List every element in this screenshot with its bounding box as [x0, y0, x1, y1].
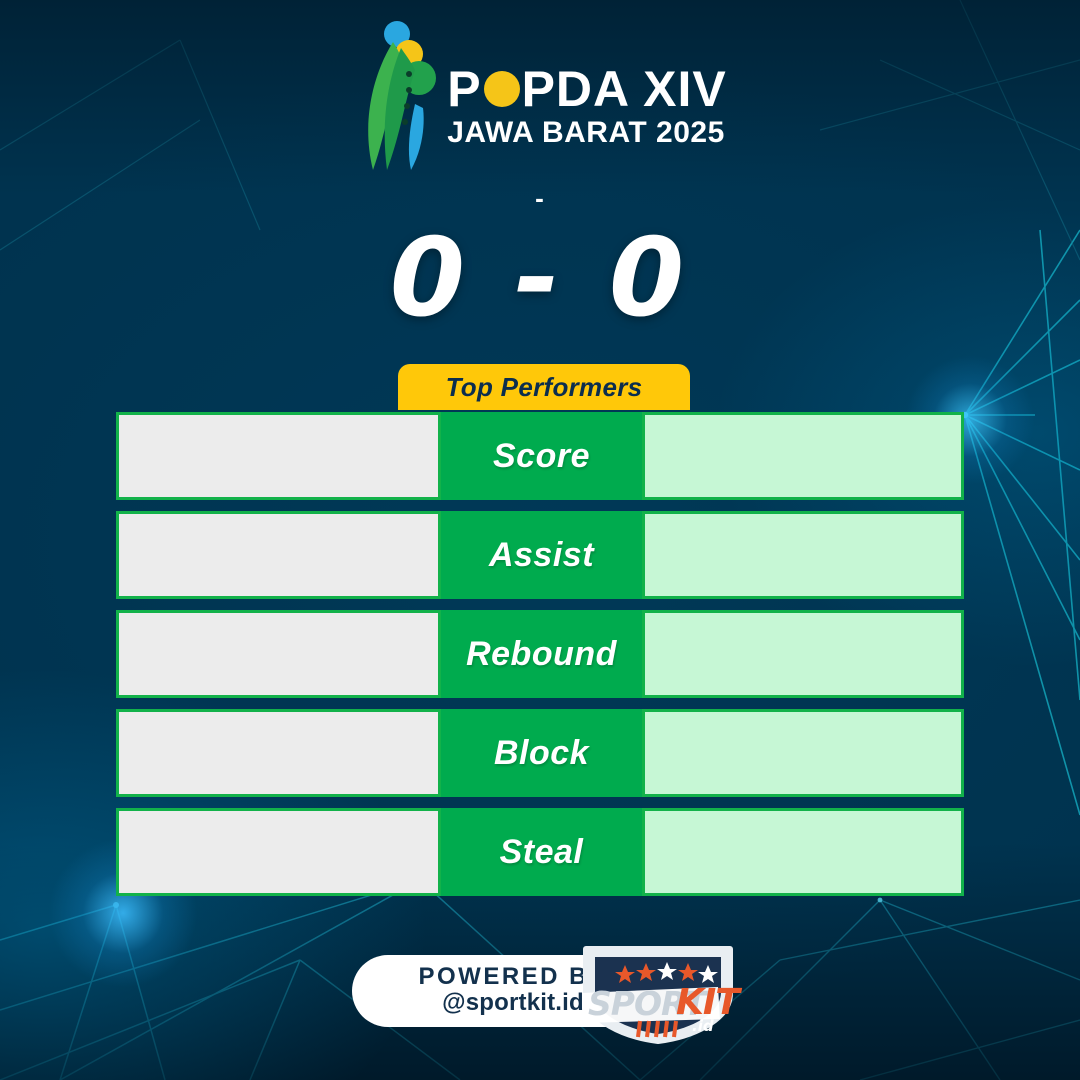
top-performers-banner: Top Performers: [398, 364, 690, 410]
team-names: -: [0, 186, 1080, 210]
home-player-cell[interactable]: [116, 610, 441, 698]
stat-label-cell: Steal: [441, 808, 642, 896]
poster-canvas: PPDA XIV JAWA BARAT 2025 - 0 - 0 Top Per…: [0, 0, 1080, 1080]
home-player-cell[interactable]: [116, 808, 441, 896]
event-subtitle: JAWA BARAT 2025: [447, 118, 727, 148]
score-display: 0 - 0: [0, 216, 1080, 341]
stat-label: Rebound: [466, 635, 617, 674]
stat-label: Block: [494, 734, 589, 773]
home-player-cell[interactable]: [116, 511, 441, 599]
stat-label: Score: [493, 437, 590, 476]
event-title: PPDA XIV: [447, 64, 727, 114]
stat-label-cell: Rebound: [441, 610, 642, 698]
sportkit-tld-text: .id: [692, 1017, 714, 1035]
event-logo: PPDA XIV JAWA BARAT 2025: [0, 12, 1080, 172]
away-player-cell[interactable]: [642, 610, 964, 698]
table-row: Rebound: [116, 610, 964, 698]
away-player-cell[interactable]: [642, 709, 964, 797]
stat-label-cell: Score: [441, 412, 642, 500]
sportkit-shield-icon[interactable]: SPORT KIT .id: [568, 935, 748, 1045]
stat-label: Steal: [500, 833, 584, 872]
top-performers-table: Score Assist Rebound Block: [116, 412, 964, 896]
table-row: Steal: [116, 808, 964, 896]
table-row: Block: [116, 709, 964, 797]
stat-label: Assist: [489, 536, 594, 575]
event-title-post: PDA XIV: [522, 64, 727, 114]
sportkit-handle[interactable]: @sportkit.id: [442, 989, 584, 1018]
home-player-cell[interactable]: [116, 412, 441, 500]
home-player-cell[interactable]: [116, 709, 441, 797]
top-performers-label: Top Performers: [446, 372, 643, 403]
stat-label-cell: Assist: [441, 511, 642, 599]
stat-label-cell: Block: [441, 709, 642, 797]
popda-leaf-icon: [353, 12, 441, 172]
away-player-cell[interactable]: [642, 511, 964, 599]
logo-o-circle-icon: [484, 71, 520, 107]
event-title-pre: P: [447, 64, 481, 114]
away-player-cell[interactable]: [642, 808, 964, 896]
table-row: Assist: [116, 511, 964, 599]
footer: POWERED BY @sportkit.id SPORT KIT: [352, 955, 732, 1027]
away-player-cell[interactable]: [642, 412, 964, 500]
table-row: Score: [116, 412, 964, 500]
